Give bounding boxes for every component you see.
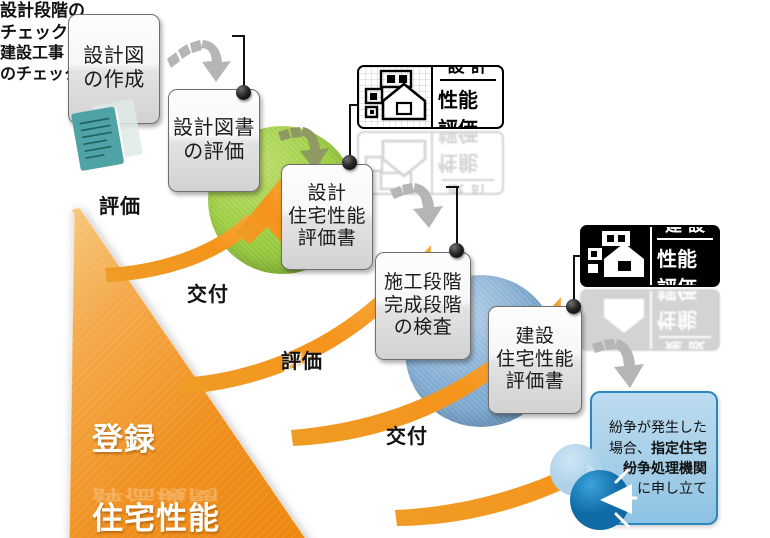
document-stack-icon bbox=[62, 94, 154, 186]
flow-label-evaluation-upper: 評価 bbox=[99, 190, 141, 219]
diagram-canvas: 登録 住宅性能 評価機関 評価機関 bbox=[0, 0, 770, 538]
badge-construction-text: 建設 性能評価 bbox=[650, 227, 718, 285]
connector-dot-design-badge bbox=[342, 155, 357, 170]
flow-label-issuance-upper: 交付 bbox=[187, 278, 229, 307]
badge-construction-bottom-reflection: 性能評価 bbox=[657, 289, 713, 336]
badge-construction-text-reflection: 建設 性能評価 bbox=[650, 291, 718, 349]
connector-stem-construction-check bbox=[456, 187, 458, 245]
box-design-housing-performance-report-label: 設計 住宅性能 評価書 bbox=[288, 183, 366, 250]
box-construction-housing-performance-report[interactable]: 建設 住宅性能 評価書 bbox=[488, 306, 582, 414]
house-solid-icon bbox=[582, 227, 650, 285]
box-design-document-evaluation[interactable]: 設計図書 の評価 bbox=[168, 89, 260, 192]
flow-label-issuance-lower: 交付 bbox=[386, 420, 428, 449]
curved-dashed-arrow-3-icon bbox=[384, 176, 456, 248]
dispute-burst-icon bbox=[540, 440, 660, 538]
badge-construction-bottom: 性能評価 bbox=[657, 240, 713, 288]
house-blueprint-icon bbox=[359, 67, 431, 127]
badge-design-top: 設計 bbox=[440, 65, 496, 81]
box-design-document-evaluation-label: 設計図書 の評価 bbox=[173, 117, 255, 164]
badge-design-bottom: 性能評価 bbox=[438, 81, 497, 130]
connector-stem-design-badge bbox=[349, 104, 351, 162]
badge-construction-performance: 建設 性能評価 bbox=[580, 225, 720, 287]
curved-dashed-arrow-1-icon bbox=[163, 27, 235, 95]
box-construction-completion-inspection-label: 施工段階 完成段階 の検査 bbox=[384, 272, 462, 339]
badge-design-performance: 設計 性能評価 bbox=[357, 65, 504, 129]
connector-dot-design-check bbox=[236, 85, 251, 100]
box-design-drawing-creation-label: 設計図 の作成 bbox=[83, 45, 145, 92]
connector-dot-construction-badge bbox=[566, 299, 581, 314]
badge-construction-top-reflection: 建設 bbox=[659, 336, 711, 351]
badge-design-text: 設計 性能評価 bbox=[431, 67, 502, 127]
box-design-housing-performance-report[interactable]: 設計 住宅性能 評価書 bbox=[281, 164, 373, 270]
box-construction-completion-inspection[interactable]: 施工段階 完成段階 の検査 bbox=[375, 252, 471, 360]
dispute-line-1: 紛争が発生した bbox=[609, 417, 707, 437]
connector-dot-construction-check bbox=[449, 243, 464, 258]
flow-label-evaluation-lower: 評価 bbox=[281, 345, 323, 374]
box-construction-housing-performance-report-label: 建設 住宅性能 評価書 bbox=[496, 326, 574, 393]
badge-construction-top: 建設 bbox=[657, 225, 713, 240]
